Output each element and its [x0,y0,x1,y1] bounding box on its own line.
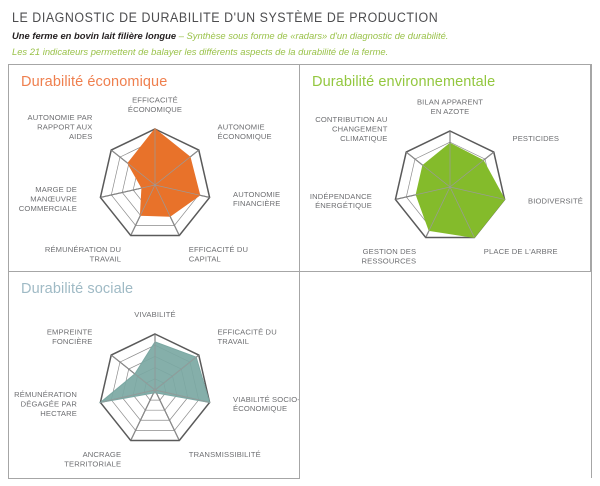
radar-svg: VIVABILITÉEFFICACITÉ DUTRAVAILVIABILITÉ … [9,272,300,479]
subtitle-farm-type: Une ferme en bovin lait filière longue [12,30,176,41]
radar-axis-label: EFFICACITÉÉCONOMIQUE [128,96,182,114]
radar-data-polygon [416,143,504,237]
page-header: LE DIAGNOSTIC DE DURABILITE D'UN SYSTÈME… [0,0,600,58]
panel-durabilite-economique: Durabilité économique EFFICACITÉÉCONOMIQ… [8,64,300,272]
radar-axis-label: VIABILITÉ SOCIO-ÉCONOMIQUE [233,395,300,413]
radar-axis-label: GESTION DESRESSOURCES [362,247,417,265]
radar-axis-label: EMPREINTEFONCIÈRE [47,328,93,346]
radar-axis-label: AUTONOMIEFINANCIÈRE [233,190,281,208]
subtitle-line-2: Les 21 indicateurs permettent de balayer… [12,46,600,57]
radar-axis-label: ANCRAGETERRITORIALE [64,450,121,468]
page-title: LE DIAGNOSTIC DE DURABILITE D'UN SYSTÈME… [12,10,553,25]
panel-empty [299,271,591,479]
radar-axis-label: INDÉPENDANCEÉNERGÉTIQUE [310,192,372,210]
radar-axis-label: AUTONOMIE PARRAPPORT AUXAIDES [28,113,93,141]
radar-axis-label: CONTRIBUTION AUCHANGEMENTCLIMATIQUE [315,115,387,143]
radar-chart-economique: EFFICACITÉÉCONOMIQUEAUTONOMIEÉCONOMIQUEA… [9,65,299,271]
radar-axis-label: AUTONOMIEÉCONOMIQUE [218,123,272,141]
panel-durabilite-environnementale: Durabilité environnementale BILAN APPARE… [299,64,591,272]
radar-axis-label: VIVABILITÉ [134,310,175,319]
panel-durabilite-sociale: Durabilité sociale VIVABILITÉEFFICACITÉ … [8,271,300,479]
radar-axis-label: RÉMUNÉRATION DUTRAVAIL [45,245,121,263]
radar-grid: Durabilité économique EFFICACITÉÉCONOMIQ… [8,64,592,478]
radar-svg: EFFICACITÉÉCONOMIQUEAUTONOMIEÉCONOMIQUEA… [9,65,300,272]
radar-chart-sociale: VIVABILITÉEFFICACITÉ DUTRAVAILVIABILITÉ … [9,272,299,478]
radar-axis-label: BILAN APPARENTEN AZOTE [417,98,483,116]
radar-axis-label: EFFICACITÉ DUCAPITAL [189,245,248,263]
radar-svg: BILAN APPARENTEN AZOTEPESTICIDESBIODIVER… [300,65,591,272]
radar-axis-line-overlay [131,390,155,440]
subtitle-dash: – [176,30,186,41]
radar-axis-label: BIODIVERSITÉ [528,197,583,206]
radar-axis-label: EFFICACITÉ DUTRAVAIL [218,328,277,346]
subtitle-synthesis: Synthèse sous forme de «radars» d'un dia… [187,30,449,41]
radar-chart-environnementale: BILAN APPARENTEN AZOTEPESTICIDESBIODIVER… [300,65,590,271]
radar-axis-line-overlay [155,390,179,440]
radar-axis-label: MARGE DEMANŒUVRECOMMERCIALE [19,185,77,213]
radar-axis-label: RÉMUNÉRATIONDÉGAGÉE PARHECTARE [14,390,77,418]
radar-axis-label: PESTICIDES [513,134,560,143]
radar-axis-label: TRANSMISSIBILITÉ [189,450,261,459]
subtitle-line-1: Une ferme en bovin lait filière longue –… [12,30,600,41]
radar-axis-label: PLACE DE L'ARBRE [484,247,558,256]
subtitle-indicators: Les 21 indicateurs permettent de balayer… [12,46,388,57]
